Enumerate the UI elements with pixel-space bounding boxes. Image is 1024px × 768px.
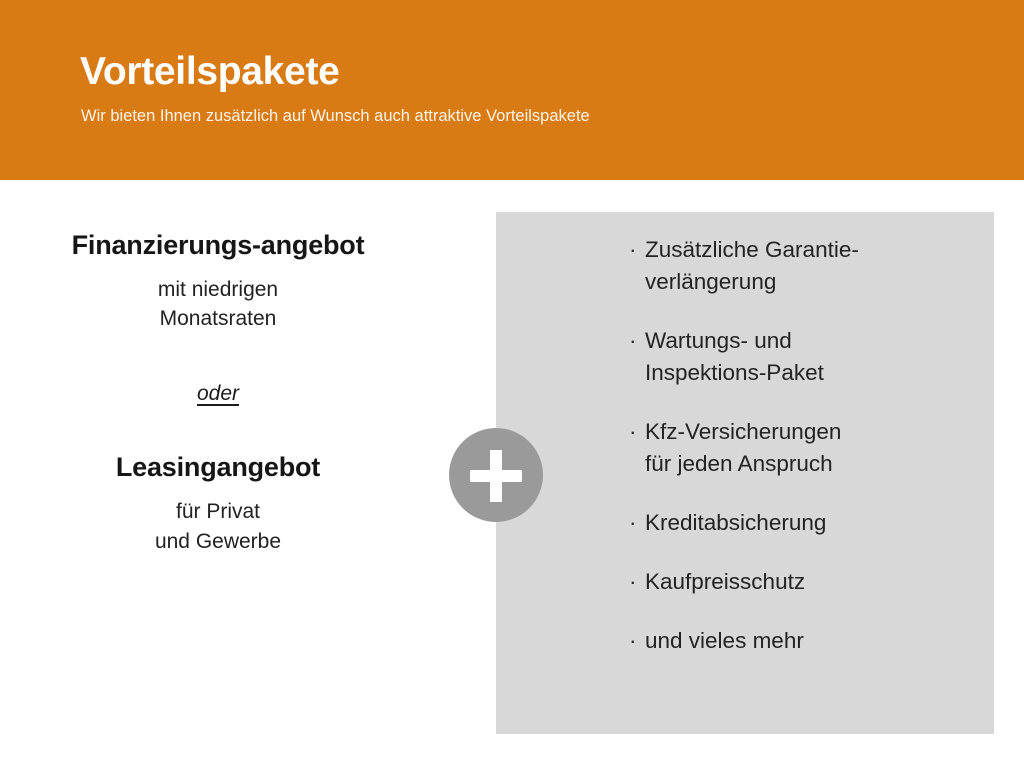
financing-detail-line-1: mit niedrigen: [40, 275, 396, 305]
list-item-line-1: Kreditabsicherung: [645, 507, 979, 539]
plus-icon-vertical-bar: [490, 450, 502, 502]
bullet-icon: ·: [629, 625, 637, 657]
financing-offer-block: Finanzierungs-angebot mit niedrigen Mona…: [40, 228, 396, 334]
list-item-line-1: und vieles mehr: [645, 625, 979, 657]
list-item: · Kfz-Versicherungen für jeden Anspruch: [629, 416, 979, 480]
list-item: · und vieles mehr: [629, 625, 979, 657]
or-divider-label: oder: [197, 382, 239, 406]
content-area: Finanzierungs-angebot mit niedrigen Mona…: [0, 180, 1024, 768]
financing-detail-line-2: Monatsraten: [40, 304, 396, 334]
offer-options-column: Finanzierungs-angebot mit niedrigen Mona…: [40, 228, 396, 556]
leasing-offer-detail: für Privat und Gewerbe: [40, 497, 396, 557]
leasing-offer-heading: Leasingangebot: [40, 450, 396, 485]
page-subtitle: Wir bieten Ihnen zusätzlich auf Wunsch a…: [81, 106, 590, 127]
leasing-detail-line-2: und Gewerbe: [40, 527, 396, 557]
list-item: · Wartungs- und Inspektions-Paket: [629, 325, 979, 389]
list-item: · Zusätzliche Garantie- verlängerung: [629, 234, 979, 298]
bullet-icon: ·: [629, 566, 637, 598]
list-item: · Kaufpreisschutz: [629, 566, 979, 598]
list-item-line-2: für jeden Anspruch: [645, 448, 979, 480]
list-item-line-1: Wartungs- und: [645, 325, 979, 357]
list-item-line-2: Inspektions-Paket: [645, 357, 979, 389]
list-item-line-2: verlängerung: [645, 266, 979, 298]
or-divider: oder: [40, 334, 396, 406]
financing-offer-detail: mit niedrigen Monatsraten: [40, 275, 396, 335]
list-item-line-1: Kaufpreisschutz: [645, 566, 979, 598]
list-item-line-1: Zusätzliche Garantie-: [645, 234, 979, 266]
benefits-list: · Zusätzliche Garantie- verlängerung · W…: [629, 234, 979, 656]
bullet-icon: ·: [629, 325, 637, 357]
header-banner: Vorteilspakete Wir bieten Ihnen zusätzli…: [0, 0, 1024, 180]
leasing-offer-block: Leasingangebot für Privat und Gewerbe: [40, 450, 396, 556]
list-item-line-1: Kfz-Versicherungen: [645, 416, 979, 448]
list-item: · Kreditabsicherung: [629, 507, 979, 539]
page-title: Vorteilspakete: [80, 52, 340, 93]
bullet-icon: ·: [629, 234, 637, 266]
financing-offer-heading: Finanzierungs-angebot: [40, 228, 396, 263]
bullet-icon: ·: [629, 507, 637, 539]
bullet-icon: ·: [629, 416, 637, 448]
plus-icon: [449, 428, 543, 522]
leasing-detail-line-1: für Privat: [40, 497, 396, 527]
benefits-panel: · Zusätzliche Garantie- verlängerung · W…: [496, 212, 994, 734]
